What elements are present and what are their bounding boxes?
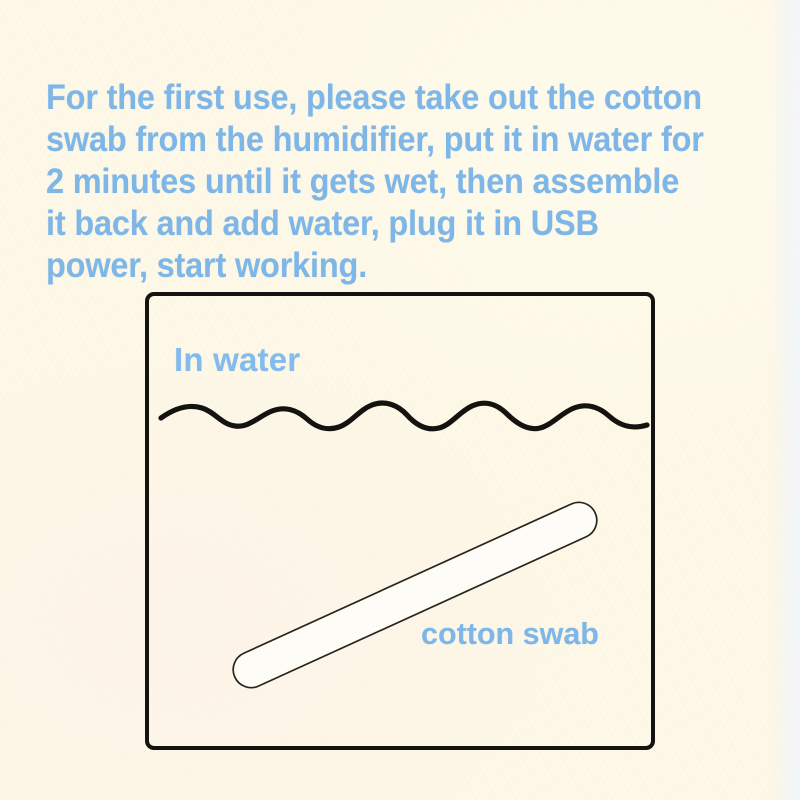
cotton-swab-label: cotton swab — [421, 617, 599, 652]
instruction-card: For the first use, please take out the c… — [0, 0, 800, 800]
instruction-paragraph: For the first use, please take out the c… — [46, 76, 705, 286]
in-water-label: In water — [174, 341, 300, 379]
cotton-swab-icon — [205, 480, 625, 710]
water-wave-icon — [155, 386, 655, 444]
